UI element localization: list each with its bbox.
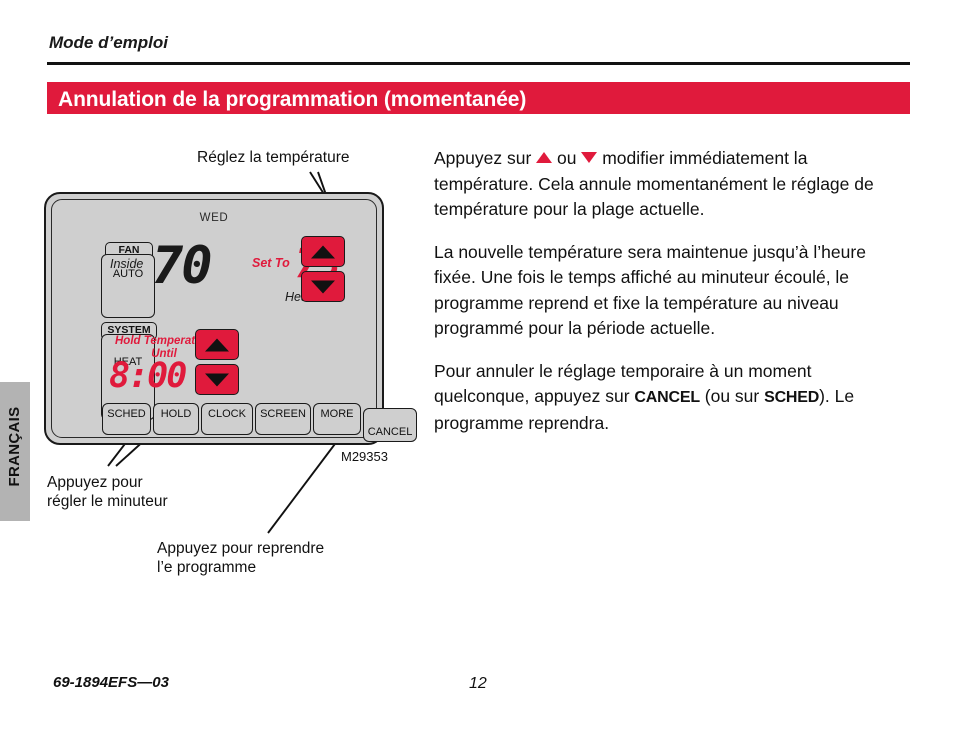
paragraph-3: Pour annuler le réglage temporaire à un …	[434, 359, 904, 437]
language-tab-francais: FRANÇAIS	[0, 382, 30, 521]
body-text-column: Appuyez sur ou modifier immédiatement la…	[434, 146, 904, 453]
key-sched[interactable]: SCHED	[102, 403, 151, 435]
set-to-label: Set To	[252, 256, 290, 270]
thermostat-illustration: WED FAN AUTO SYSTEM HEAT Inside 70 Set T…	[44, 192, 384, 445]
triangle-up-icon	[311, 245, 335, 258]
temperature-down-button[interactable]	[301, 271, 345, 302]
footer-document-code: 69-1894EFS—03	[53, 674, 169, 691]
callout-set-temperature: Réglez la température	[197, 148, 350, 167]
inside-label: Inside	[110, 257, 143, 271]
timer-down-button[interactable]	[195, 364, 239, 395]
running-head: Mode d’emploi	[49, 33, 168, 53]
triangle-up-icon	[536, 152, 552, 163]
inside-temperature-value: 70	[152, 240, 211, 292]
triangle-down-icon	[581, 152, 597, 163]
triangle-down-icon	[311, 280, 335, 293]
key-hold[interactable]: HOLD	[153, 403, 199, 435]
key-screen[interactable]: SCREEN	[255, 403, 311, 435]
timer-up-button[interactable]	[195, 329, 239, 360]
temperature-up-button[interactable]	[301, 236, 345, 267]
key-clock[interactable]: CLOCK	[201, 403, 253, 435]
hold-until-time-value: 8:00	[109, 359, 185, 394]
thermostat-bezel: WED FAN AUTO SYSTEM HEAT Inside 70 Set T…	[51, 199, 377, 438]
key-more[interactable]: MORE	[313, 403, 361, 435]
triangle-up-icon	[205, 338, 229, 351]
p1-part-b: ou	[552, 148, 581, 168]
figure-code: M29353	[341, 449, 388, 464]
page: Mode d’emploi Annulation de la programma…	[0, 0, 954, 738]
paragraph-2: La nouvelle température sera maintenue j…	[434, 240, 904, 342]
paragraph-1: Appuyez sur ou modifier immédiatement la…	[434, 146, 904, 223]
footer-page-number: 12	[469, 675, 487, 693]
header-rule	[47, 62, 910, 65]
day-of-week-label: WED	[52, 212, 376, 224]
key-cancel[interactable]: CANCEL	[363, 408, 417, 442]
callout-set-timer: Appuyez pour régler le minuteur	[47, 473, 168, 511]
language-tab-label: FRANÇAIS	[6, 377, 23, 516]
callout-resume-program: Appuyez pour reprendre l’e programme	[157, 539, 324, 577]
section-title-banner: Annulation de la programmation (momentan…	[47, 82, 910, 114]
keyword-cancel: CANCEL	[634, 389, 699, 406]
p3-part-b: (ou sur	[700, 386, 764, 406]
p1-part-a: Appuyez sur	[434, 148, 536, 168]
page-title: Annulation de la programmation (momentan…	[58, 88, 526, 112]
triangle-down-icon	[205, 373, 229, 386]
keyword-sched: SCHED	[764, 389, 819, 406]
